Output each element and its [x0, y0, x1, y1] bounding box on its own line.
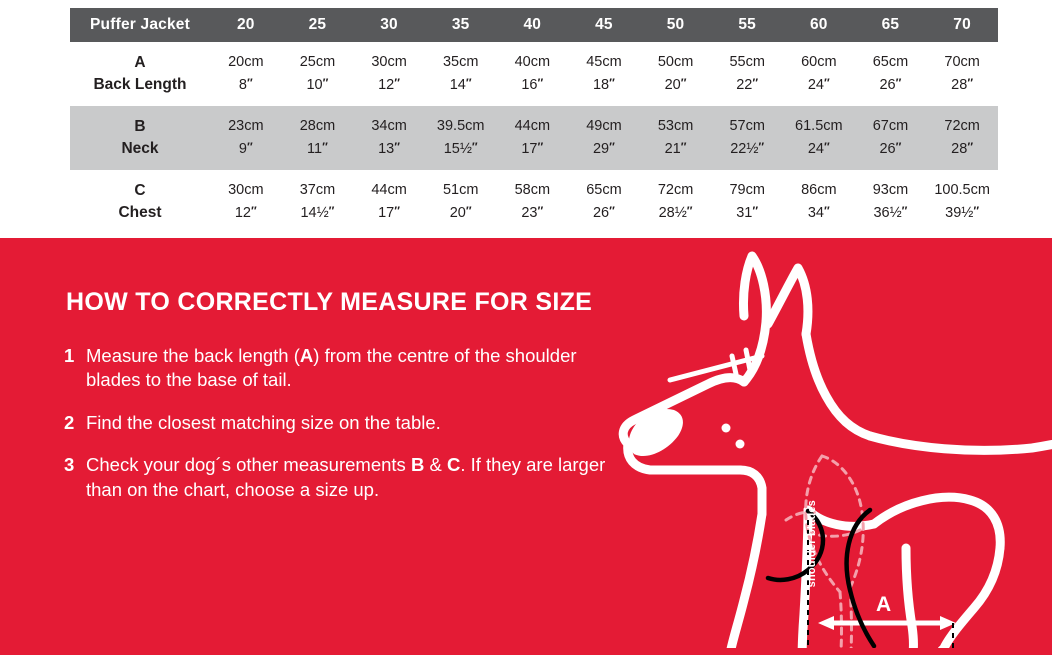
measurement-cell: 51cm20″ — [425, 170, 497, 234]
inch-mark: ″ — [681, 76, 687, 90]
measurement-inch-value: 26 — [879, 77, 895, 93]
inch-mark: ″ — [896, 140, 902, 154]
dimension-guides — [808, 520, 953, 648]
measurement-inch: 13″ — [353, 138, 425, 161]
measurement-cm: 100.5cm — [926, 180, 998, 202]
dog-harness-dashed — [786, 456, 863, 648]
dog-diagram — [612, 248, 1052, 648]
dog-whisker-dot — [736, 440, 745, 449]
measurement-cell: 28cm11″ — [282, 106, 354, 170]
instruction-step: 3Check your dog´s other measurements B &… — [64, 453, 624, 502]
measurement-cm: 49cm — [568, 116, 640, 138]
inch-mark: ″ — [609, 76, 615, 90]
measurement-inch-value: 26 — [879, 141, 895, 157]
measurement-inch: 20″ — [425, 202, 497, 225]
measurement-cm: 39.5cm — [425, 116, 497, 138]
measurement-inch: 20″ — [640, 74, 712, 97]
size-column-header: 30 — [353, 8, 425, 42]
measurement-cell: 30cm12″ — [353, 42, 425, 106]
measurement-inch-value: 26 — [593, 205, 609, 221]
measurement-name: Neck — [70, 138, 210, 160]
measurement-inch: 36½″ — [855, 202, 927, 225]
inch-mark: ″ — [973, 204, 979, 218]
measurement-cm: 70cm — [926, 52, 998, 74]
dog-diagram-svg — [612, 248, 1052, 648]
measurement-inch: 24″ — [783, 138, 855, 161]
step-text: Measure the back length (A) from the cen… — [86, 345, 577, 390]
measurement-cm: 57cm — [711, 116, 783, 138]
measurement-inch-value: 23 — [521, 205, 537, 221]
measurement-cm: 30cm — [353, 52, 425, 74]
measurement-name: Back Length — [70, 74, 210, 96]
inch-mark: ″ — [896, 76, 902, 90]
inch-mark: ″ — [394, 140, 400, 154]
measurement-cell: 37cm14½″ — [282, 170, 354, 234]
measurement-cm: 50cm — [640, 52, 712, 74]
step-text-part: Measure the back length ( — [86, 345, 300, 366]
measurement-inch: 31″ — [711, 202, 783, 225]
inch-mark: ″ — [466, 76, 472, 90]
measurement-inch: 12″ — [210, 202, 282, 225]
measurement-inch-value: 13 — [378, 141, 394, 157]
measurement-cell: 25cm10″ — [282, 42, 354, 106]
measurement-cm: 65cm — [568, 180, 640, 202]
inch-mark: ″ — [967, 76, 973, 90]
size-column-header: 70 — [926, 8, 998, 42]
measurement-cell: 49cm29″ — [568, 106, 640, 170]
step-emphasis: A — [300, 345, 313, 366]
size-table-body: ABack Length20cm8″25cm10″30cm12″35cm14″4… — [70, 42, 998, 234]
measurement-cm: 37cm — [282, 180, 354, 202]
size-table-header-row: Puffer Jacket 2025303540455055606570 — [70, 8, 998, 42]
measurement-cm: 58cm — [497, 180, 569, 202]
instruction-step: 1Measure the back length (A) from the ce… — [64, 344, 624, 393]
instructions-panel: HOW TO CORRECTLY MEASURE FOR SIZE 1Measu… — [0, 238, 1052, 655]
measurement-inch-value: 28 — [951, 77, 967, 93]
measurement-cell: 53cm21″ — [640, 106, 712, 170]
measurement-inch: 18″ — [568, 74, 640, 97]
instruction-step: 2Find the closest matching size on the t… — [64, 411, 624, 435]
inch-mark: ″ — [824, 76, 830, 90]
measurement-cell: 39.5cm15½″ — [425, 106, 497, 170]
size-column-header: 55 — [711, 8, 783, 42]
measurement-cell: 61.5cm24″ — [783, 106, 855, 170]
measurement-cell: 44cm17″ — [353, 170, 425, 234]
measurement-inch: 28½″ — [640, 202, 712, 225]
measurement-inch: 22½″ — [711, 138, 783, 161]
measurement-inch: 9″ — [210, 138, 282, 161]
measurement-cm: 30cm — [210, 180, 282, 202]
measurement-cell: 30cm12″ — [210, 170, 282, 234]
inch-mark: ″ — [247, 140, 253, 154]
measurement-cm: 51cm — [425, 180, 497, 202]
measurement-cell: 72cm28½″ — [640, 170, 712, 234]
measurement-cm: 67cm — [855, 116, 927, 138]
measurement-inch-value: 20 — [450, 205, 466, 221]
inch-mark: ″ — [902, 204, 908, 218]
measurement-inch-value: 8 — [239, 77, 247, 93]
size-column-header: 45 — [568, 8, 640, 42]
measurement-cm: 25cm — [282, 52, 354, 74]
measurement-inch-value: 11 — [307, 141, 322, 157]
measurement-cell: 58cm23″ — [497, 170, 569, 234]
inch-mark: ″ — [609, 140, 615, 154]
measurement-letter: B — [70, 116, 210, 138]
measurement-cell: 86cm34″ — [783, 170, 855, 234]
measurement-cell: 23cm9″ — [210, 106, 282, 170]
inch-mark: ″ — [538, 140, 544, 154]
measurement-cell: 67cm26″ — [855, 106, 927, 170]
measurement-inch: 34″ — [783, 202, 855, 225]
measurement-cm: 53cm — [640, 116, 712, 138]
measurement-cm: 72cm — [640, 180, 712, 202]
measurement-inch: 26″ — [568, 202, 640, 225]
measurement-cell: 65cm26″ — [855, 42, 927, 106]
table-row: BNeck23cm9″28cm11″34cm13″39.5cm15½″44cm1… — [70, 106, 998, 170]
measurement-cell: 65cm26″ — [568, 170, 640, 234]
inch-mark: ″ — [247, 76, 253, 90]
measurement-cm: 60cm — [783, 52, 855, 74]
measurement-cell: 35cm14″ — [425, 42, 497, 106]
inch-mark: ″ — [967, 140, 973, 154]
measurement-inch: 22″ — [711, 74, 783, 97]
table-row: ABack Length20cm8″25cm10″30cm12″35cm14″4… — [70, 42, 998, 106]
inch-mark: ″ — [752, 204, 758, 218]
measurement-inch-value: 29 — [593, 141, 609, 157]
measurement-inch-value: 28½ — [659, 205, 687, 221]
size-table-area: Puffer Jacket 2025303540455055606570 ABa… — [0, 0, 1052, 238]
measurement-cell: 100.5cm39½″ — [926, 170, 998, 234]
measurement-inch: 21″ — [640, 138, 712, 161]
inch-mark: ″ — [609, 204, 615, 218]
size-column-header: 25 — [282, 8, 354, 42]
size-column-header: 65 — [855, 8, 927, 42]
step-number: 2 — [64, 411, 74, 435]
measurement-inch: 24″ — [783, 74, 855, 97]
dimension-label-a: A — [876, 593, 891, 617]
measurement-cell: 50cm20″ — [640, 42, 712, 106]
measurement-letter: C — [70, 180, 210, 202]
measurement-cm: 34cm — [353, 116, 425, 138]
measurement-cell: 70cm28″ — [926, 42, 998, 106]
measurement-inch-value: 24 — [808, 141, 824, 157]
measurement-inch: 26″ — [855, 138, 927, 161]
dog-outline — [623, 256, 1052, 596]
step-emphasis: C — [447, 454, 460, 475]
dog-eye-dot — [722, 424, 731, 433]
measurement-cm: 79cm — [711, 180, 783, 202]
measurement-inch: 14½″ — [282, 202, 354, 225]
inch-mark: ″ — [538, 76, 544, 90]
size-table: Puffer Jacket 2025303540455055606570 ABa… — [70, 8, 998, 234]
measurement-cell: 79cm31″ — [711, 170, 783, 234]
measurement-cm: 28cm — [282, 116, 354, 138]
inch-mark: ″ — [394, 76, 400, 90]
inch-mark: ″ — [251, 204, 257, 218]
dimension-arrow-a — [818, 616, 956, 630]
inch-mark: ″ — [466, 204, 472, 218]
measurement-inch: 17″ — [353, 202, 425, 225]
measurement-inch: 17″ — [497, 138, 569, 161]
table-row: CChest30cm12″37cm14½″44cm17″51cm20″58cm2… — [70, 170, 998, 234]
measurement-inch-value: 18 — [593, 77, 609, 93]
size-column-header: 60 — [783, 8, 855, 42]
step-text: Check your dog´s other measurements B & … — [86, 454, 605, 499]
measurement-cm: 86cm — [783, 180, 855, 202]
measurement-cm: 20cm — [210, 52, 282, 74]
measurement-inch-value: 12 — [235, 205, 251, 221]
inch-mark: ″ — [681, 140, 687, 154]
measurement-inch: 39½″ — [926, 202, 998, 225]
measurement-inch-value: 36½ — [873, 205, 901, 221]
inch-mark: ″ — [472, 140, 478, 154]
measurement-cm: 55cm — [711, 52, 783, 74]
inch-mark: ″ — [323, 76, 329, 90]
measurement-cm: 44cm — [353, 180, 425, 202]
step-text: Find the closest matching size on the ta… — [86, 412, 441, 433]
measurement-cell: 55cm22″ — [711, 42, 783, 106]
measurement-inch-value: 22½ — [730, 141, 758, 157]
measurement-inch-value: 31 — [736, 205, 752, 221]
measurement-inch: 10″ — [282, 74, 354, 97]
measurement-cm: 93cm — [855, 180, 927, 202]
shoulder-blades-label: shoulder blades — [806, 500, 818, 587]
inch-mark: ″ — [329, 204, 335, 218]
measurement-cell: 72cm28″ — [926, 106, 998, 170]
measurement-inch-value: 17 — [378, 205, 394, 221]
measurement-cm: 72cm — [926, 116, 998, 138]
measurement-cell: 45cm18″ — [568, 42, 640, 106]
measurement-inch: 16″ — [497, 74, 569, 97]
measurement-letter: A — [70, 52, 210, 74]
measurement-inch-value: 14½ — [300, 205, 328, 221]
inch-mark: ″ — [322, 140, 328, 154]
measurement-cm: 65cm — [855, 52, 927, 74]
size-column-header: 40 — [497, 8, 569, 42]
size-chart-page: Puffer Jacket 2025303540455055606570 ABa… — [0, 0, 1052, 655]
step-number: 1 — [64, 344, 74, 368]
measurement-inch-value: 24 — [808, 77, 824, 93]
measurement-row-label: BNeck — [70, 106, 210, 170]
measurement-cm: 40cm — [497, 52, 569, 74]
measurement-inch: 28″ — [926, 74, 998, 97]
measurement-inch-value: 39½ — [945, 205, 973, 221]
step-text-part: Find the closest matching size on the ta… — [86, 412, 441, 433]
measurement-inch: 28″ — [926, 138, 998, 161]
measurement-cell: 40cm16″ — [497, 42, 569, 106]
measurement-cm: 61.5cm — [783, 116, 855, 138]
measurement-inch: 8″ — [210, 74, 282, 97]
measurement-inch-value: 12 — [378, 77, 394, 93]
step-emphasis: B — [411, 454, 424, 475]
measurement-cm: 23cm — [210, 116, 282, 138]
measurement-inch: 15½″ — [425, 138, 497, 161]
inch-mark: ″ — [758, 140, 764, 154]
measurement-cell: 57cm22½″ — [711, 106, 783, 170]
size-column-header: 50 — [640, 8, 712, 42]
inch-mark: ″ — [824, 204, 830, 218]
measurement-cell: 34cm13″ — [353, 106, 425, 170]
panel-headline: HOW TO CORRECTLY MEASURE FOR SIZE — [66, 288, 592, 317]
measurement-inch: 23″ — [497, 202, 569, 225]
measurement-inch-value: 14 — [450, 77, 466, 93]
measurement-cm: 45cm — [568, 52, 640, 74]
size-column-header: 35 — [425, 8, 497, 42]
inch-mark: ″ — [538, 204, 544, 218]
measurement-row-label: CChest — [70, 170, 210, 234]
measurement-inch: 14″ — [425, 74, 497, 97]
measurement-inch-value: 20 — [665, 77, 681, 93]
measurement-inch: 11″ — [282, 138, 354, 161]
measurement-inch-value: 16 — [521, 77, 537, 93]
step-text-part: Check your dog´s other measurements — [86, 454, 411, 475]
measurement-cell: 44cm17″ — [497, 106, 569, 170]
measurement-inch-value: 28 — [951, 141, 967, 157]
measurement-inch-value: 21 — [665, 141, 681, 157]
instruction-steps: 1Measure the back length (A) from the ce… — [64, 344, 624, 520]
measurement-cm: 35cm — [425, 52, 497, 74]
inch-mark: ″ — [394, 204, 400, 218]
measurement-cell: 60cm24″ — [783, 42, 855, 106]
measurement-name: Chest — [70, 202, 210, 224]
measurement-inch: 12″ — [353, 74, 425, 97]
step-number: 3 — [64, 453, 74, 477]
measurement-inch-value: 10 — [306, 77, 322, 93]
measurement-cell: 93cm36½″ — [855, 170, 927, 234]
inch-mark: ″ — [824, 140, 830, 154]
measurement-inch: 29″ — [568, 138, 640, 161]
size-table-header: Puffer Jacket 2025303540455055606570 — [70, 8, 998, 42]
inch-mark: ″ — [687, 204, 693, 218]
measurement-inch-value: 17 — [521, 141, 537, 157]
size-column-header: 20 — [210, 8, 282, 42]
measurement-cm: 44cm — [497, 116, 569, 138]
measurement-inch-value: 15½ — [444, 141, 472, 157]
measurement-inch-value: 22 — [736, 77, 752, 93]
table-corner-label: Puffer Jacket — [70, 8, 210, 42]
measurement-inch: 26″ — [855, 74, 927, 97]
measurement-inch-value: 34 — [808, 205, 824, 221]
measurement-row-label: ABack Length — [70, 42, 210, 106]
step-text-part: & — [424, 454, 447, 475]
inch-mark: ″ — [752, 76, 758, 90]
measurement-cell: 20cm8″ — [210, 42, 282, 106]
measurement-inch-value: 9 — [239, 141, 247, 157]
